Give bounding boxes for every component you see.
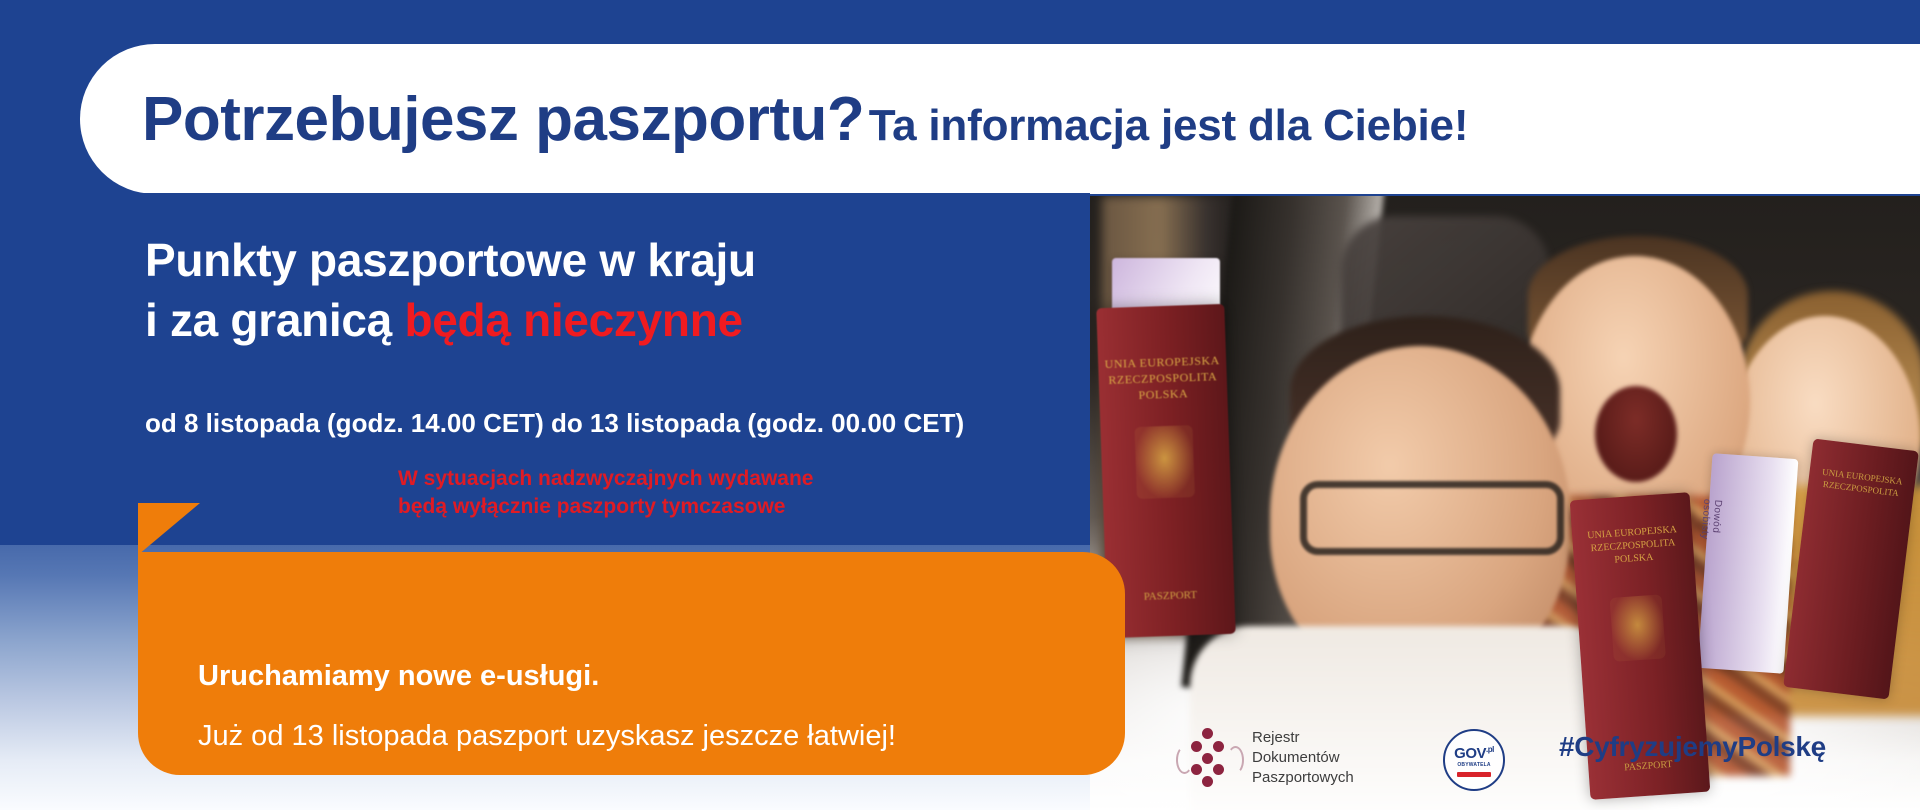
emergency-note-line-1: W sytuacjach nadzwyczajnych wydawane bbox=[398, 465, 813, 493]
gov-badge-red-bar bbox=[1457, 772, 1491, 777]
callout-body: Uruchamiamy nowe e-usługi. Już od 13 lis… bbox=[138, 552, 1125, 775]
lead-line-two-white: i za granicą bbox=[145, 294, 404, 346]
family-with-passports-photo: Dowód osobisty UNIA EUROPEJSKA RZECZPOSP… bbox=[1090, 196, 1920, 810]
boy-open-mouth bbox=[1595, 386, 1677, 482]
rejestr-dokumentow-paszportowych-logo: Rejestr Dokumentów Paszportowych bbox=[1180, 728, 1354, 788]
callout-line-two: Już od 13 listopada paszport uzyskasz je… bbox=[198, 720, 896, 753]
lead-line-one: Punkty paszportowe w kraju bbox=[145, 233, 756, 287]
lead-line-two-red: będą nieczynne bbox=[404, 294, 742, 346]
gov-badge-main-text: GOV.pl bbox=[1454, 743, 1494, 761]
info-panel: Punkty paszportowe w kraju i za granicą … bbox=[0, 193, 1090, 545]
passport-cover-text-main: UNIA EUROPEJSKA RZECZPOSPOLITA POLSKA bbox=[1098, 352, 1228, 404]
id-card-label: Dowód osobisty bbox=[1697, 499, 1723, 558]
passport-info-banner: Dowód osobisty UNIA EUROPEJSKA RZECZPOSP… bbox=[0, 0, 1920, 810]
purple-id-card: Dowód osobisty bbox=[1698, 453, 1799, 673]
rdp-dots-icon bbox=[1180, 728, 1236, 788]
closure-date-range: od 8 listopada (godz. 14.00 CET) do 13 l… bbox=[145, 408, 964, 439]
callout-tab-shape bbox=[138, 503, 200, 555]
headline-text: Potrzebujesz paszportu? Ta informacja je… bbox=[142, 84, 1468, 155]
campaign-hashtag: #CyfryzujemyPolskę bbox=[1559, 731, 1826, 763]
callout-line-one: Uruchamiamy nowe e-usługi. bbox=[198, 660, 599, 693]
gov-pl-badge: GOV.pl OBYWATELA bbox=[1443, 729, 1505, 791]
headline-subtitle: Ta informacja jest dla Ciebie! bbox=[869, 101, 1469, 150]
polish-eagle-emblem-main bbox=[1134, 425, 1194, 499]
rdp-logo-text: Rejestr Dokumentów Paszportowych bbox=[1252, 728, 1354, 788]
lead-line-two: i za granicą będą nieczynne bbox=[145, 293, 743, 347]
passport-word-main: PASZPORT bbox=[1106, 588, 1234, 604]
eyeglasses bbox=[1300, 481, 1564, 555]
passport-cover-text-2: UNIA EUROPEJSKA RZECZPOSPOLITA POLSKA bbox=[1572, 522, 1694, 569]
headline-question: Potrzebujesz paszportu? bbox=[142, 85, 864, 154]
passport-cover-text-4: UNIA EUROPEJSKA RZECZPOSPOLITA bbox=[1808, 464, 1916, 501]
polish-eagle-emblem-2 bbox=[1610, 594, 1666, 661]
e-services-callout: Uruchamiamy nowe e-usługi. Już od 13 lis… bbox=[138, 503, 1125, 775]
headline-banner: Potrzebujesz paszportu? Ta informacja je… bbox=[80, 44, 1920, 194]
gov-badge-sub-text: OBYWATELA bbox=[1457, 762, 1490, 768]
